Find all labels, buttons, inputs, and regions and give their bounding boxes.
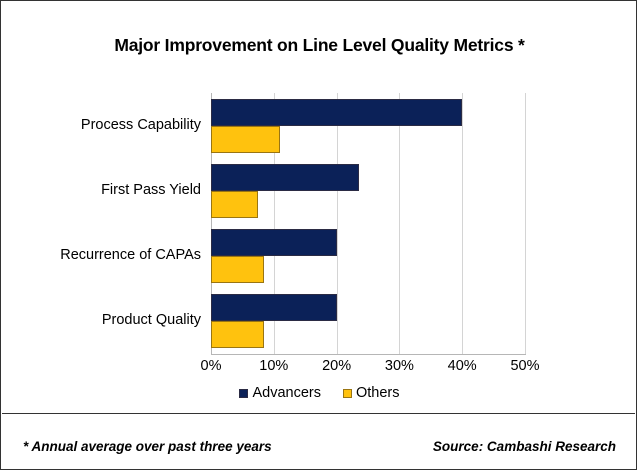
category-label: First Pass Yield <box>16 182 211 198</box>
chart-figure: Major Improvement on Line Level Quality … <box>0 0 637 470</box>
bar-advancers-first-pass-yield <box>211 164 359 191</box>
x-axis-tick-labels: 0%10%20%30%40%50% <box>211 358 525 380</box>
x-tick-label: 0% <box>181 358 241 374</box>
category-label: Process Capability <box>16 117 211 133</box>
chart-legend: AdvancersOthers <box>1 385 637 401</box>
bar-advancers-recurrence-of-capas <box>211 229 337 256</box>
bar-others-process-capability <box>211 126 280 153</box>
bar-others-product-quality <box>211 321 264 348</box>
legend-swatch-icon <box>239 389 248 398</box>
gridline-50 <box>525 93 526 354</box>
legend-entry-advancers[interactable]: Advancers <box>239 385 321 401</box>
legend-label: Others <box>356 385 400 401</box>
legend-label: Advancers <box>252 385 321 401</box>
bar-advancers-product-quality <box>211 294 337 321</box>
bar-advancers-process-capability <box>211 99 462 126</box>
bar-series-container <box>211 93 525 354</box>
category-axis-labels: Process CapabilityFirst Pass YieldRecurr… <box>1 93 211 354</box>
bar-group <box>211 229 525 283</box>
category-label: Recurrence of CAPAs <box>16 247 211 263</box>
chart-title: Major Improvement on Line Level Quality … <box>1 35 637 56</box>
bar-group <box>211 164 525 218</box>
bar-others-recurrence-of-capas <box>211 256 264 283</box>
legend-swatch-icon <box>343 389 352 398</box>
x-tick-label: 30% <box>369 358 429 374</box>
legend-entry-others[interactable]: Others <box>343 385 400 401</box>
footer-divider <box>2 413 635 414</box>
bar-others-first-pass-yield <box>211 191 258 218</box>
source-attribution: Source: Cambashi Research <box>433 439 616 454</box>
bar-group <box>211 99 525 153</box>
bar-group <box>211 294 525 348</box>
x-tick-label: 50% <box>495 358 555 374</box>
x-tick-label: 40% <box>432 358 492 374</box>
x-axis-line <box>211 354 526 355</box>
x-tick-label: 10% <box>244 358 304 374</box>
footnote-text: * Annual average over past three years <box>23 439 272 454</box>
category-label: Product Quality <box>16 312 211 328</box>
x-tick-label: 20% <box>307 358 367 374</box>
plot-area <box>211 93 525 354</box>
